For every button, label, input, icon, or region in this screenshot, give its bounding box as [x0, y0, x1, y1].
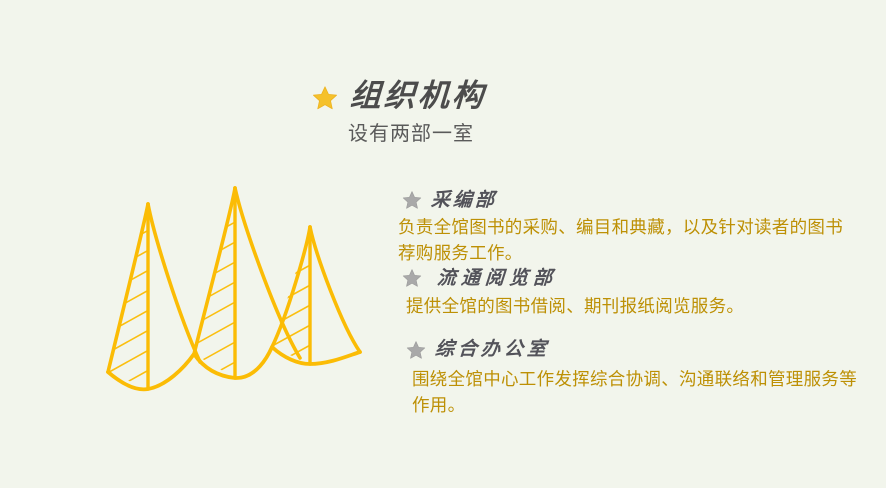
section-heading: 采编部	[402, 190, 858, 211]
star-icon	[402, 268, 422, 288]
sections-list: 采编部 负责全馆图书的采购、编目和典藏，以及针对读者的图书荐购服务工作。 流通阅…	[398, 190, 858, 419]
page-subtitle: 设有两部一室	[348, 122, 732, 146]
mountain-peaks-illustration	[104, 186, 384, 402]
section-title: 采编部	[430, 190, 497, 211]
section-body: 负责全馆图书的采购、编目和典藏，以及针对读者的图书荐购服务工作。	[398, 215, 858, 267]
section-heading: 综合办公室	[406, 339, 858, 360]
slide-canvas: 组织机构 设有两部一室	[0, 0, 886, 488]
section-title: 综合办公室	[434, 339, 550, 360]
section-item: 综合办公室 围绕全馆中心工作发挥综合协调、沟通联络和管理服务等作用。	[398, 339, 858, 419]
section-item: 采编部 负责全馆图书的采购、编目和典藏，以及针对读者的图书荐购服务工作。	[398, 190, 858, 267]
star-icon	[406, 340, 426, 360]
star-icon	[312, 85, 338, 111]
section-title: 流通阅览部	[436, 268, 557, 289]
star-icon	[402, 190, 422, 210]
page-title: 组织机构	[349, 80, 487, 113]
title-row: 组织机构	[312, 80, 732, 113]
section-heading: 流通阅览部	[402, 268, 858, 289]
section-item: 流通阅览部 提供全馆的图书借阅、期刊报纸阅览服务。	[398, 268, 858, 320]
title-block: 组织机构 设有两部一室	[312, 80, 732, 146]
section-body: 围绕全馆中心工作发挥综合协调、沟通联络和管理服务等作用。	[412, 367, 858, 419]
section-body: 提供全馆的图书借阅、期刊报纸阅览服务。	[406, 294, 858, 320]
